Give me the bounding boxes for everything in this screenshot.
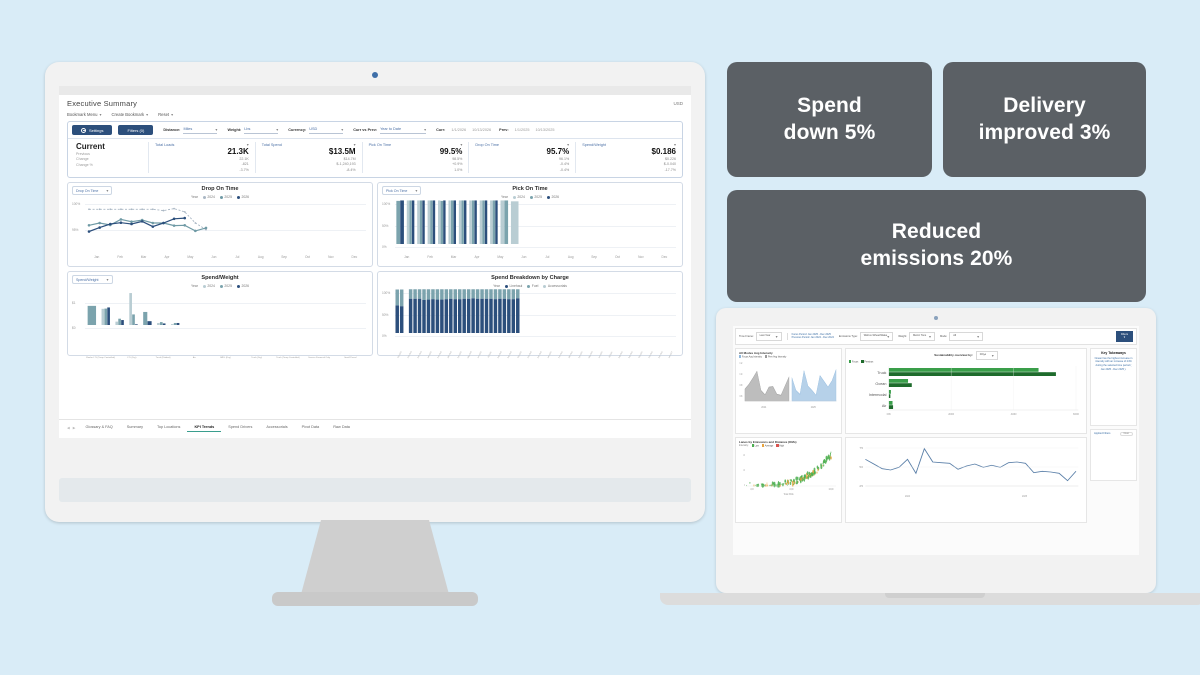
sustainability-hbars: TruckOceanIntermodalAir0K200400600 <box>849 364 1083 416</box>
callout-card-spend: Spend down 5% <box>727 62 932 177</box>
x-tick-label: Feb <box>108 255 131 259</box>
drop-on-time-metric-select[interactable]: Drop On Time ▾ <box>72 186 112 195</box>
pick-on-time-plot: 100% 50% 0% JanFebMarAprMayJunJulAugSepO… <box>382 200 678 258</box>
distance-select[interactable]: Miles ▾ <box>183 127 217 134</box>
page-title: Executive Summary <box>67 99 137 108</box>
x-tick-label: Nov 2026 <box>648 351 654 361</box>
card-lanes-by-emissions[interactable]: Lanes by Emissions and Distance (KMs) In… <box>735 437 842 523</box>
kpi-title: Total Spend <box>262 143 282 147</box>
intensity-trend-line: 755025 <box>849 440 1083 496</box>
chart-legend: Year 2024 2025 2026 <box>72 195 368 199</box>
svg-text:25: 25 <box>859 484 863 488</box>
gear-icon <box>81 128 86 133</box>
co2e-value: CO₂e <box>980 353 986 358</box>
kpi-card-drop-on-time[interactable]: Drop On Time ▾ 95.7% 96.1% -0.4% -0.4% <box>468 142 575 173</box>
filter-curr-vs-prev[interactable]: Curr vs Prev: Year to Date ▾ <box>353 127 426 134</box>
drop-on-time-plot: 100% 95% JanFebMarAprMayJunJulAugSepOctN… <box>72 200 368 258</box>
y-tick: 50% <box>382 224 388 228</box>
legend-item-previous[interactable]: Previous <box>861 360 873 363</box>
line-group-labels: 2024 2025 <box>849 496 1083 498</box>
x-tick-label: May <box>179 255 202 259</box>
key-takeaways-body: Ocean has the highest increase in intens… <box>1094 357 1133 372</box>
kpi-row: Current Previous Change Change % Total L… <box>68 139 682 177</box>
currency-badge: USD <box>673 101 683 106</box>
y-tick: 0% <box>382 334 387 338</box>
chart-card-pick-on-time[interactable]: Pick On Time ▾ Pick On Time Year 2024 20… <box>377 182 683 267</box>
x-tick-label: Reefer LTL (Temp Controlled) <box>85 357 116 359</box>
chart-title: Spend Breakdown by Charge <box>491 275 569 281</box>
chevron-down-icon: ▾ <box>100 112 102 117</box>
legend-item-2025[interactable]: 2025 <box>220 195 232 199</box>
x-tick-label: Jun <box>202 255 225 259</box>
x-tick-label: Nov 2024 <box>407 351 413 361</box>
svg-text:0.06: 0.06 <box>739 394 742 398</box>
callout-card-emissions: Reduced emissions 20% <box>727 190 1146 302</box>
chevron-down-icon: ▾ <box>887 334 889 339</box>
x-tick-label: Oct 2025 <box>517 351 523 361</box>
y-tick: 100% <box>72 202 80 206</box>
x-tick-label: Sep 2026 <box>627 351 633 361</box>
legend-item-2026[interactable]: 2026 <box>237 284 249 288</box>
chevron-down-icon: ▾ <box>992 353 994 358</box>
monitor-screen: Executive Summary USD Bookmark Menu ▾ Cr… <box>59 86 691 438</box>
spend-breakdown-bars <box>395 289 520 336</box>
legend-item-prev[interactable]: Prev Avg Intensity <box>765 355 786 358</box>
svg-text:100,000: 100,000 <box>829 488 834 491</box>
svg-text:1,000: 1,000 <box>750 488 754 491</box>
callout-line-1: Reduced <box>861 219 1013 246</box>
legend-item-high[interactable]: High <box>776 444 784 447</box>
kpi-title: Drop On Time <box>475 143 499 147</box>
chart-title: Sustainability overview by: <box>934 353 973 357</box>
chevron-down-icon: ▾ <box>977 334 979 339</box>
legend-item-2026[interactable]: 2026 <box>237 195 249 199</box>
filter-label: Curr vs Prev: <box>353 128 377 132</box>
x-tick-label: Feb 2025 <box>437 351 443 361</box>
x-tick-label: Aug <box>559 255 582 259</box>
chart-card-spend-weight[interactable]: Spend/Weight ▾ Spend/Weight Year 2024 20… <box>67 271 373 356</box>
x-tick-label: Jan 2027 <box>668 351 674 361</box>
laptop-content-grid: All Modes Avg Intensity Focus Avg Intens… <box>735 348 1137 523</box>
x-tick-label: LTL (Dry) <box>116 357 147 359</box>
filter-label: Currency: <box>288 128 306 132</box>
laptop-left-column: All Modes Avg Intensity Focus Avg Intens… <box>735 348 842 523</box>
x-tick-label: Jan <box>395 255 418 259</box>
x-tick-label: Feb <box>418 255 441 259</box>
legend-item-average[interactable]: Average <box>762 444 773 447</box>
menu-label: Reset <box>158 112 169 117</box>
curr-label: Curr: <box>436 128 445 132</box>
x-tick-label: Dec 2024 <box>417 351 423 361</box>
filter-emissions-type[interactable]: Emissions Type: Well-to-Wheel/Wake ▾ <box>839 332 893 341</box>
prev-label: Prev: <box>499 128 509 132</box>
x-tick-label: Mar 2025 <box>447 351 453 361</box>
svg-text:Intermodal: Intermodal <box>869 393 887 397</box>
x-axis-labels: Reefer LTL (Temp Controlled)LTL (Dry)Tru… <box>85 357 366 359</box>
x-tick-label: Apr <box>155 255 178 259</box>
legend-item-fuel[interactable]: Fuel <box>527 284 538 288</box>
legend-title: Year <box>493 284 500 288</box>
filter-label: Emissions Type: <box>839 335 858 338</box>
kpi-card-pick-on-time[interactable]: Pick On Time ▾ 99.5% 98.5% +0.9% 1.0% <box>362 142 469 173</box>
svg-text:10: 10 <box>743 469 745 472</box>
chevron-down-icon: ▾ <box>146 112 148 117</box>
chevron-down-icon: ▾ <box>276 127 278 132</box>
spend-breakdown-plot: 100% 50% 0% Oct 2024Nov 2024Dec 2024Jan … <box>382 289 678 347</box>
curr-start-date[interactable]: 1/1/2026 <box>451 128 466 132</box>
legend-label: 2026 <box>551 195 559 199</box>
group-label: 2024 <box>761 407 766 409</box>
menu-create-bookmark[interactable]: Create Bookmark ▾ <box>112 112 149 117</box>
legend-title: Year <box>191 284 198 288</box>
filter-label: Weight: <box>898 335 907 338</box>
legend-label: Focus <box>852 362 858 364</box>
monitor-stand-neck <box>300 520 450 598</box>
legend-label: Accessorials <box>548 284 567 288</box>
chevron-down-icon: ▾ <box>929 334 931 339</box>
x-tick-label: Sep 2025 <box>507 351 513 361</box>
dashboard-header: Executive Summary USD <box>59 95 691 110</box>
x-tick-label: Truck (Dry) <box>241 357 272 359</box>
time-frame-select[interactable]: Last Year ▾ <box>756 332 782 341</box>
svg-text:0K: 0K <box>887 412 892 416</box>
menu-bookmark-menu[interactable]: Bookmark Menu ▾ <box>67 112 102 117</box>
filter-currency[interactable]: Currency: USD ▾ <box>288 127 343 134</box>
x-tick-label: Jul 2025 <box>487 351 493 361</box>
x-tick-label: Truck (Temp Controlled) <box>272 357 303 359</box>
funnel-icon: ▼ <box>1121 336 1128 339</box>
filter-label: Distance: <box>163 128 180 132</box>
kpi-card-total-spend[interactable]: Total Spend ▾ $13.5M $14.7M $-1,240,193 … <box>255 142 362 173</box>
callout-line-2: improved 3% <box>979 120 1111 147</box>
settings-button[interactable]: Settings <box>72 125 112 135</box>
laptop-base-notch <box>885 593 985 598</box>
chart-legend: Year 2024 2025 2026 <box>72 284 368 288</box>
x-tick-label: Mar <box>442 255 465 259</box>
weight-value: Metric Tons <box>913 334 926 339</box>
weight-select[interactable]: Metric Tons ▾ <box>909 332 935 341</box>
kpi-title: Total Loads <box>155 143 174 147</box>
filter-distance[interactable]: Distance: Miles ▾ <box>163 127 217 134</box>
chevron-down-icon: ▾ <box>341 127 343 132</box>
x-tick-label: Feb 2026 <box>557 351 563 361</box>
x-tick-label: Sep <box>582 255 605 259</box>
kpi-card-spend-weight[interactable]: Spend/Weight ▾ $0.186 $0.226 $-0.040 -17… <box>575 142 682 173</box>
filter-bar: Settings Filters (0) Distance: Miles ▾ <box>68 122 682 139</box>
spend-weight-plot: $1 $0 Reefer LTL (Temp Controlled)LTL (D… <box>72 289 368 347</box>
x-tick-label: Nov 2025 <box>527 351 533 361</box>
tab-top-locations[interactable]: Top Locations <box>150 423 187 432</box>
x-tick-label: Mar <box>132 255 155 259</box>
svg-text:20: 20 <box>743 454 745 457</box>
x-tick-label: Oct 2026 <box>638 351 644 361</box>
legend-label: Linehaul <box>509 284 522 288</box>
x-tick-label: Small Parcel <box>335 357 366 359</box>
kpi-row-labels: Current Previous Change Change % <box>68 142 148 173</box>
key-takeaways-title: Key Takeaways <box>1094 351 1133 355</box>
laptop-middle-column: Sustainability overview by: CO₂e ▾ Focus… <box>845 348 1087 523</box>
kpi-change-pct-value: -8.4% <box>262 168 356 174</box>
metric-value: Pick On Time <box>386 189 407 193</box>
filters-label: Filters (0) <box>127 128 144 133</box>
kpi-current-value: 21.3K <box>155 148 249 157</box>
curr-vs-prev-select[interactable]: Year to Date ▾ <box>380 127 426 134</box>
tab-accessorials[interactable]: Accessorials <box>259 423 294 432</box>
prev-end-date[interactable]: 10/13/2025 <box>535 128 554 132</box>
dashboard-tabbar: ◀ ▶ Glossary & FAQSummaryTop LocationsKP… <box>59 419 691 432</box>
filter-mode[interactable]: Mode: All ▾ <box>940 332 983 341</box>
svg-text:Air: Air <box>882 404 887 408</box>
x-tick-label: Aug 2025 <box>497 351 503 361</box>
area-group-labels: 2024 2025 <box>739 407 838 409</box>
tab-summary[interactable]: Summary <box>120 423 150 432</box>
executive-summary-dashboard: Executive Summary USD Bookmark Menu ▾ Cr… <box>59 86 691 438</box>
legend-item-low[interactable]: Low <box>752 444 759 447</box>
chart-title: Drop On Time <box>202 186 239 192</box>
kpi-title: Spend/Weight <box>582 143 606 147</box>
spend-weight-metric-select[interactable]: Spend/Weight ▾ <box>72 275 113 284</box>
svg-text:0.08: 0.08 <box>739 383 742 387</box>
x-tick-label: Service Financial Only <box>304 357 335 359</box>
legend-title: Intensity: <box>739 444 749 447</box>
svg-text:0.10: 0.10 <box>739 372 742 376</box>
svg-text:0.12: 0.12 <box>739 361 742 365</box>
mode-select[interactable]: All ▾ <box>949 332 983 341</box>
menu-label: Create Bookmark <box>112 112 145 117</box>
kpi-current-value: 99.5% <box>369 148 463 157</box>
svg-text:50: 50 <box>859 465 863 469</box>
dashboard-main-panel: Settings Filters (0) Distance: Miles ▾ <box>67 121 683 178</box>
svg-text:0: 0 <box>744 484 745 487</box>
applied-filters-title: Applied Filters <box>1094 432 1110 435</box>
kpi-change-pct-value: 1.0% <box>369 168 463 174</box>
x-tick-label: Jun <box>512 255 535 259</box>
legend-item-2024[interactable]: 2024 <box>513 195 525 199</box>
kpi-current-value: 95.7% <box>475 148 569 157</box>
svg-text:200: 200 <box>948 412 954 416</box>
x-tick-label: Truck (Flatbed) <box>147 357 178 359</box>
legend-item-2025[interactable]: 2025 <box>220 284 232 288</box>
x-tick-label: Jul <box>226 255 249 259</box>
x-tick-label: Oct <box>606 255 629 259</box>
chart-legend: Year Linehaul Fuel Accessorials <box>382 284 678 288</box>
callout-line-2: emissions 20% <box>861 246 1013 273</box>
legend-label: 2024 <box>207 195 215 199</box>
filter-time-frame[interactable]: Time Frame: Last Year ▾ <box>739 332 782 341</box>
lanes-scatter: 1,00010,000100,00020100 <box>739 448 838 494</box>
chart-card-spend-breakdown[interactable]: Spend Breakdown by Charge Year Linehaul … <box>377 271 683 356</box>
chevron-down-icon: ▾ <box>107 277 109 282</box>
legend-label: Average <box>765 446 774 448</box>
monitor-chin <box>59 478 691 502</box>
x-tick-label: Aug <box>249 255 272 259</box>
x-tick-label: Dec <box>653 255 676 259</box>
x-axis-labels: JanFebMarAprMayJunJulAugSepOctNovDec <box>85 255 366 259</box>
x-tick-label: Jan 2026 <box>547 351 553 361</box>
curr-end-date[interactable]: 10/13/2026 <box>472 128 491 132</box>
y-tick: 50% <box>382 313 388 317</box>
laptop-camera-icon <box>934 316 938 320</box>
menu-reset[interactable]: Reset ▾ <box>158 112 173 117</box>
kpi-current-value: $13.5M <box>262 148 356 157</box>
spend-weight-bars <box>85 289 210 328</box>
group-label: 2025 <box>1022 496 1027 498</box>
co2e-select[interactable]: CO₂e ▾ <box>976 351 998 360</box>
legend-item-accessorials[interactable]: Accessorials <box>543 284 567 288</box>
x-tick-label: May 2026 <box>587 351 593 361</box>
pick-on-time-bars <box>395 200 520 247</box>
chart-title: All Modes Avg Intensity <box>739 351 838 355</box>
tab-glossary-faq[interactable]: Glossary & FAQ <box>79 423 120 432</box>
filter-weight[interactable]: Weight: Metric Tons ▾ <box>898 332 935 341</box>
callout-card-delivery: Delivery improved 3% <box>943 62 1146 177</box>
chart-title: Spend/Weight <box>201 275 238 281</box>
monitor-camera-icon <box>372 72 378 78</box>
browser-chrome-bar <box>59 86 691 95</box>
legend-label: 2026 <box>241 195 249 199</box>
metric-value: Drop On Time <box>76 189 98 193</box>
filter-label: Weight: <box>227 128 241 132</box>
x-axis-title: Total KMs <box>739 494 838 496</box>
x-tick-label: Dec 2025 <box>537 351 543 361</box>
kpi-change-pct-value: -0.4% <box>475 168 569 174</box>
x-tick-label: Sep <box>272 255 295 259</box>
drop-on-time-lines <box>85 200 210 248</box>
legend-item-focus[interactable]: Focus <box>849 360 858 363</box>
weight-select[interactable]: Lbs ▾ <box>244 127 278 134</box>
x-tick-label: Apr 2025 <box>457 351 463 361</box>
legend-label: High <box>779 446 784 448</box>
laptop-right-column: Key Takeaways Ocean has the highest incr… <box>1090 348 1137 523</box>
time-frame-value: Last Year <box>760 334 771 339</box>
kpi-title: Pick On Time <box>369 143 392 147</box>
laptop-screen: Time Frame: Last Year ▾ Focus Period: Ja… <box>733 326 1139 555</box>
y-tick: $0 <box>72 326 76 330</box>
x-tick-label: Jan <box>85 255 108 259</box>
x-tick-label: Dec 2026 <box>658 351 664 361</box>
tab-pivot-data[interactable]: Pivot Data <box>295 423 327 432</box>
tab-spend-drivers[interactable]: Spend Drivers <box>221 423 259 432</box>
card-sustainability-overview[interactable]: Sustainability overview by: CO₂e ▾ Focus… <box>845 348 1087 434</box>
x-tick-label: Jul 2026 <box>607 351 613 361</box>
legend-item-linehaul[interactable]: Linehaul <box>505 284 522 288</box>
x-axis-labels: Oct 2024Nov 2024Dec 2024Jan 2025Feb 2025… <box>395 354 676 356</box>
kpi-label-change-pct: Change % <box>76 163 148 169</box>
x-tick-label: Nov <box>629 255 652 259</box>
filter-label: Time Frame: <box>739 335 754 338</box>
period-summary: Focus Period: Jan 2025 - Dec 2025 Previo… <box>787 333 834 340</box>
x-tick-label: Jul <box>536 255 559 259</box>
chevron-down-icon: ▾ <box>171 112 173 117</box>
legend-title: Year <box>191 195 198 199</box>
kpi-change-pct-value: -17.7% <box>582 168 676 174</box>
legend-item-2025[interactable]: 2025 <box>530 195 542 199</box>
legend-item-focus[interactable]: Focus Avg Intensity <box>739 355 762 358</box>
chevron-down-icon: ▾ <box>776 334 778 339</box>
chart-legend: Year 2024 2025 2026 <box>382 195 678 199</box>
scene: Executive Summary USD Bookmark Menu ▾ Cr… <box>0 0 1200 675</box>
legend-label: 2026 <box>241 284 249 288</box>
legend-label: 2025 <box>534 195 542 199</box>
kpi-card-total-loads[interactable]: Total Loads ▾ 21.3K 22.1K -821 -3.7% <box>148 142 255 173</box>
filters-button[interactable]: Filters (0) <box>118 125 153 135</box>
chevron-down-icon: ▾ <box>424 127 426 132</box>
chart-card-drop-on-time[interactable]: Drop On Time ▾ Drop On Time Year 2024 20… <box>67 182 373 267</box>
charts-grid: Drop On Time ▾ Drop On Time Year 2024 20… <box>59 178 691 356</box>
x-tick-label: Oct <box>296 255 319 259</box>
clear-filters-button[interactable]: Clear <box>1120 432 1134 436</box>
x-tick-label: Aug 2026 <box>617 351 623 361</box>
pick-on-time-metric-select[interactable]: Pick On Time ▾ <box>382 186 421 195</box>
svg-text:75: 75 <box>859 446 863 450</box>
x-tick-label: Jan 2025 <box>427 351 433 361</box>
x-tick-label: Oct 2024 <box>397 351 403 361</box>
group-label: 2024 <box>905 496 910 498</box>
mode-value: All <box>953 334 956 339</box>
weight-value: Lbs <box>244 127 250 132</box>
svg-text:Truck: Truck <box>877 371 886 375</box>
x-tick-label: Nov <box>319 255 342 259</box>
filter-weight[interactable]: Weight: Lbs ▾ <box>227 127 278 134</box>
tab-raw-data[interactable]: Raw Data <box>326 423 357 432</box>
x-tick-label: Jun 2025 <box>477 351 483 361</box>
y-tick: 95% <box>72 228 78 232</box>
kpi-label-current: Current <box>76 142 148 151</box>
x-tick-label: Jun 2026 <box>597 351 603 361</box>
kpi-current-value: $0.186 <box>582 148 676 157</box>
card-key-takeaways: Key Takeaways Ocean has the highest incr… <box>1090 348 1137 426</box>
laptop-device: Time Frame: Last Year ▾ Focus Period: Ja… <box>716 308 1156 593</box>
legend-item-2024[interactable]: 2024 <box>203 284 215 288</box>
card-intensity-trend[interactable]: 755025 2024 2025 <box>845 437 1087 523</box>
settings-label: Settings <box>89 128 103 133</box>
legend-label: Previous <box>864 362 873 364</box>
y-tick: 0% <box>382 245 387 249</box>
callout-line-1: Spend <box>784 93 876 120</box>
emissions-type-select[interactable]: Well-to-Wheel/Wake ▾ <box>860 332 894 341</box>
tab-kpi-trends[interactable]: KPI Trends <box>187 423 221 432</box>
laptop-filters-button[interactable]: Filters ▼ <box>1116 331 1133 342</box>
svg-text:10,000: 10,000 <box>789 488 794 491</box>
x-tick-label: May <box>489 255 512 259</box>
prev-start-date[interactable]: 1/1/2025 <box>515 128 530 132</box>
legend-title: Year <box>501 195 508 199</box>
legend-label: Prev Avg Intensity <box>768 357 786 359</box>
y-tick: 100% <box>382 202 390 206</box>
card-all-modes-avg-intensity[interactable]: All Modes Avg Intensity Focus Avg Intens… <box>735 348 842 434</box>
legend-item-2026[interactable]: 2026 <box>547 195 559 199</box>
bookmark-menu-row: Bookmark Menu ▾ Create Bookmark ▾ Reset … <box>59 110 691 121</box>
metric-value: Spend/Weight <box>76 278 99 282</box>
currency-select[interactable]: USD ▾ <box>309 127 343 134</box>
legend-label: 2024 <box>517 195 525 199</box>
svg-text:Ocean: Ocean <box>875 382 886 386</box>
legend-item-2024[interactable]: 2024 <box>203 195 215 199</box>
x-axis-labels: JanFebMarAprMayJunJulAugSepOctNovDec <box>395 255 676 259</box>
card-applied-filters: Applied Filters Clear <box>1090 429 1137 481</box>
curr-vs-prev-value: Year to Date <box>380 127 401 132</box>
callout-line-2: down 5% <box>784 120 876 147</box>
x-tick-label: May 2025 <box>467 351 473 361</box>
chart-title: Lanes by Emissions and Distance (KMs) <box>739 440 838 444</box>
chart-title: Pick On Time <box>512 186 547 192</box>
legend-label: Low <box>755 446 759 448</box>
emissions-type-value: Well-to-Wheel/Wake <box>864 334 888 339</box>
x-tick-label: Dec <box>343 255 366 259</box>
callout-line-1: Delivery <box>979 93 1111 120</box>
x-tick-label: Mar 2026 <box>567 351 573 361</box>
legend-label: 2025 <box>224 195 232 199</box>
